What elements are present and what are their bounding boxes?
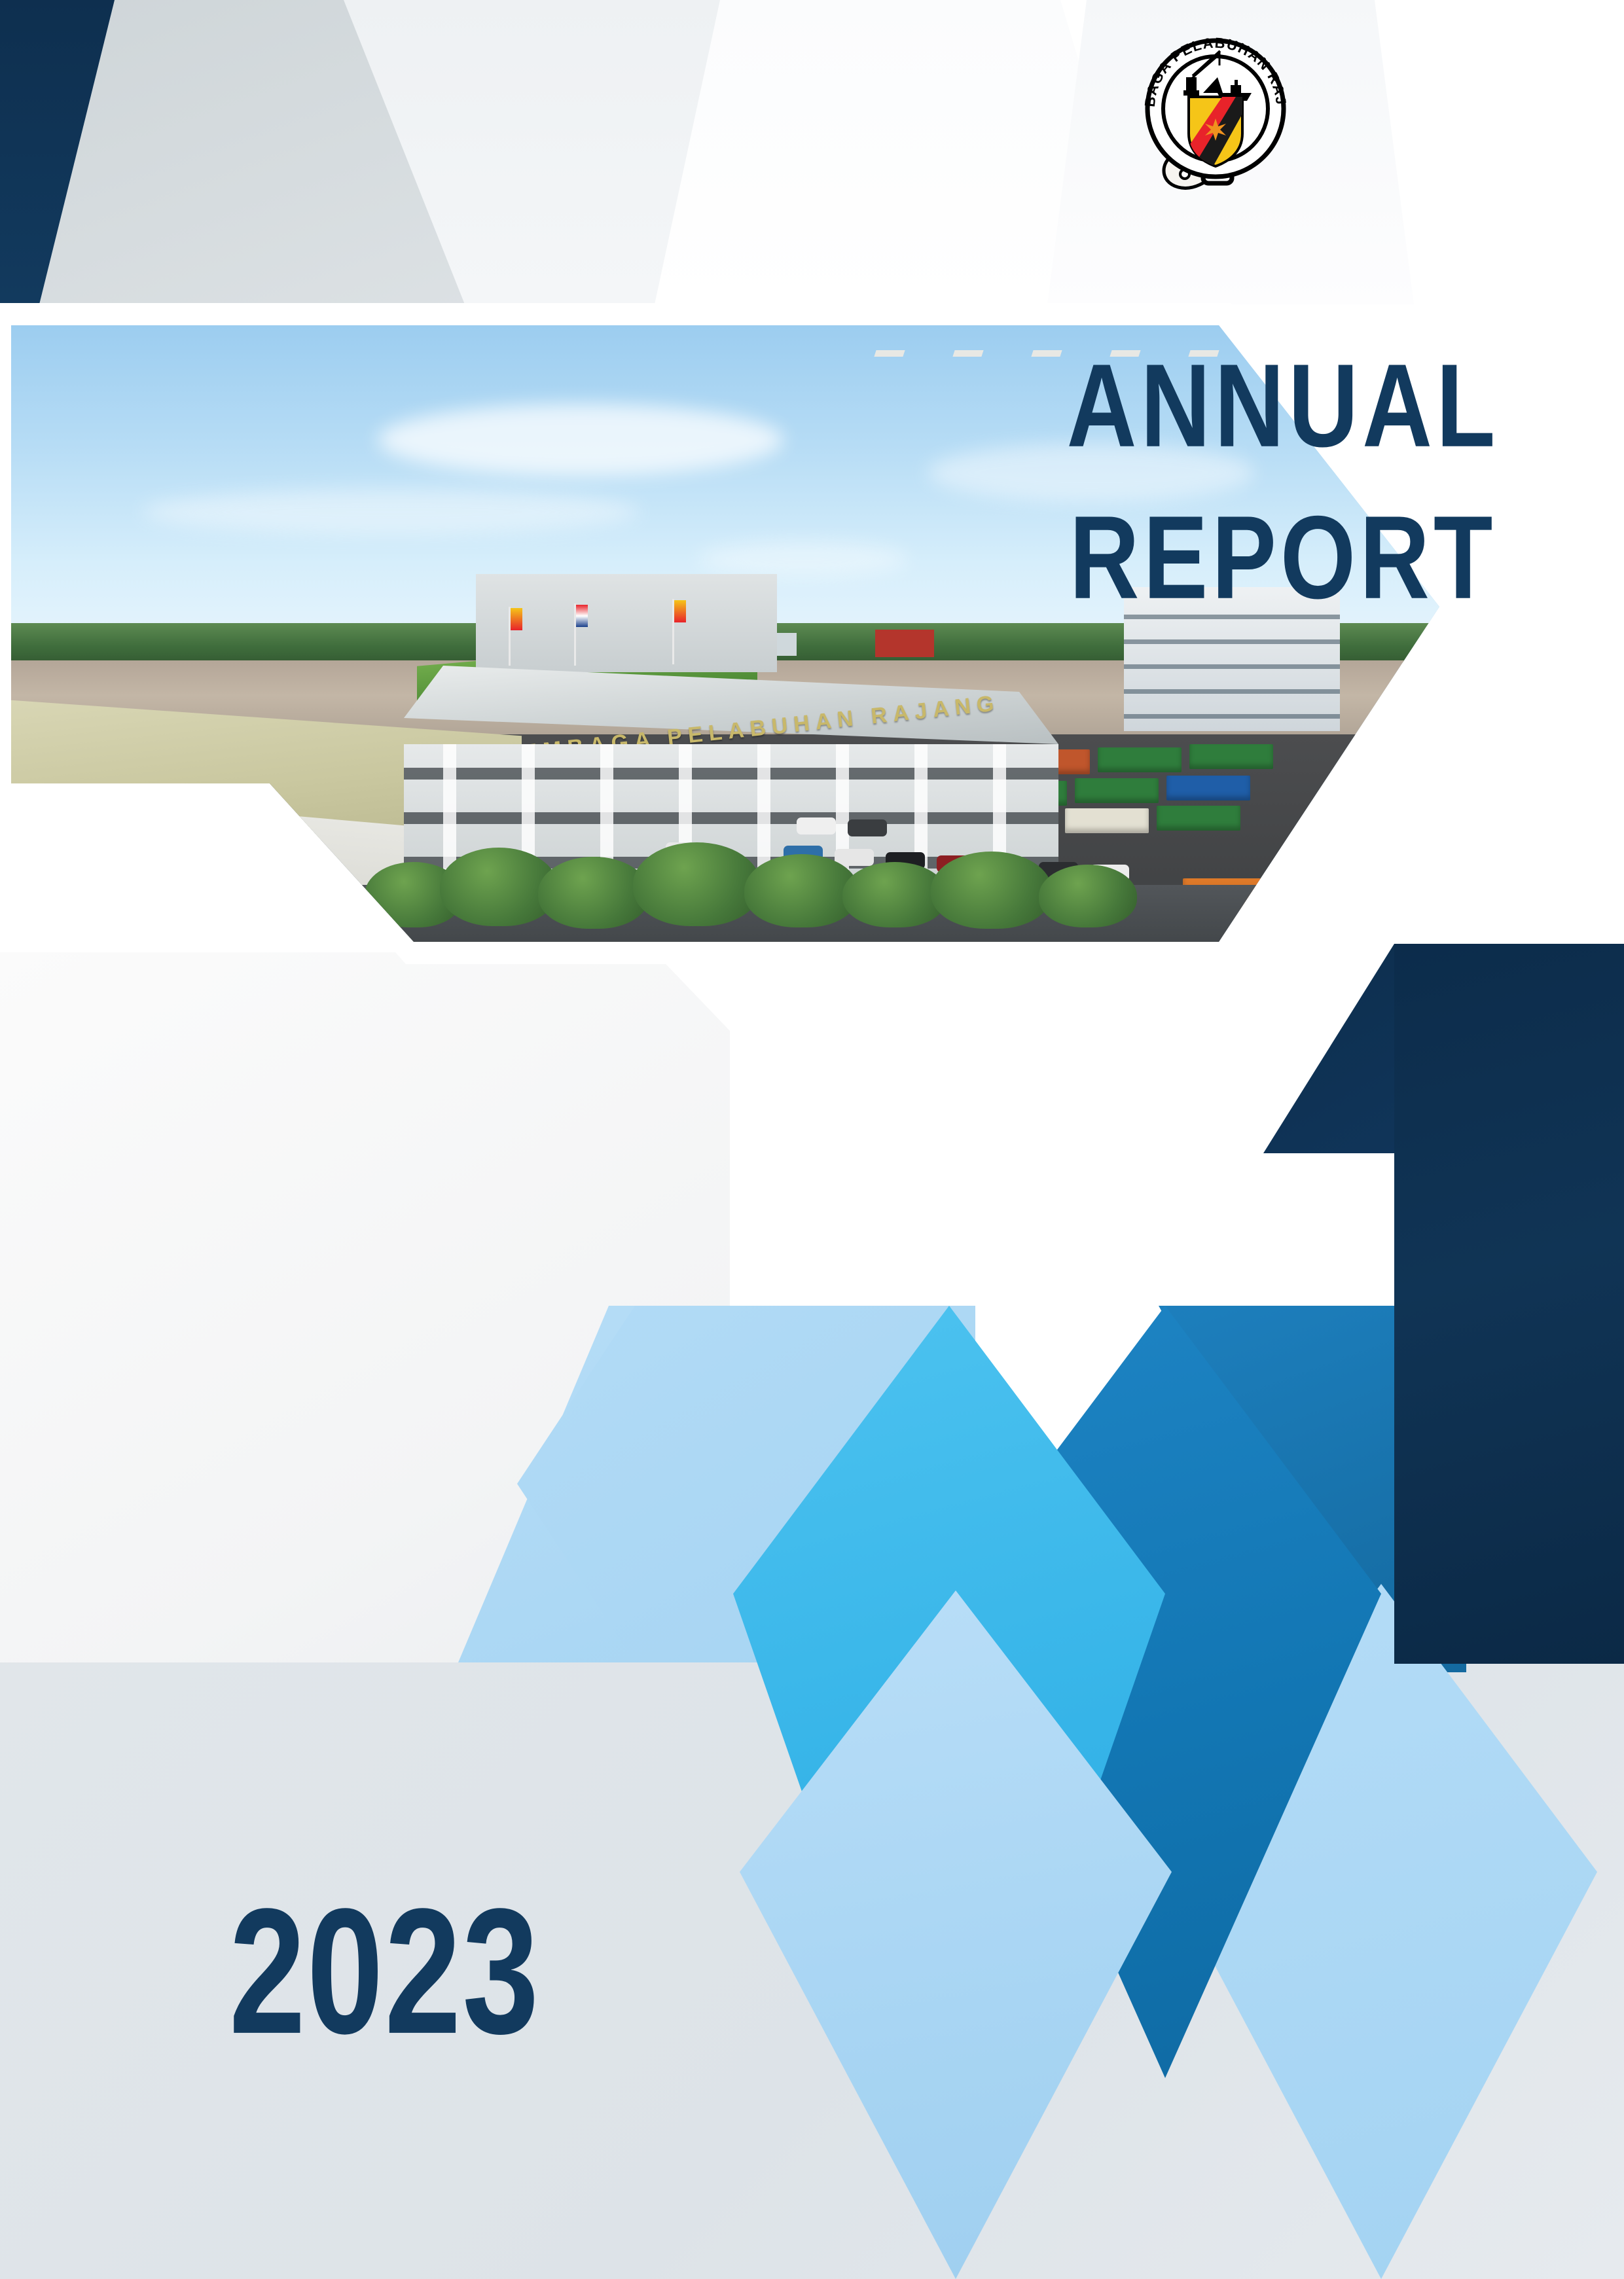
- photo-cloud: [142, 489, 640, 535]
- photo-far-building: [875, 630, 934, 657]
- decor-triangle-faint: [1047, 0, 1624, 304]
- photo-cloud: [698, 541, 908, 577]
- photo-container: [1098, 747, 1182, 772]
- title-line-report: REPORT: [969, 479, 1597, 637]
- photo-car: [797, 817, 836, 834]
- photo-container: [1166, 776, 1250, 800]
- title-line-annual: ANNUAL: [969, 327, 1597, 486]
- cover-year: 2023: [229, 1869, 540, 2075]
- photo-car: [848, 819, 887, 836]
- cover-title: ANNUAL REPORT: [969, 327, 1597, 609]
- decor-navy-block: [1394, 944, 1624, 1664]
- photo-cloud: [378, 404, 784, 476]
- photo-container: [1157, 806, 1240, 831]
- photo-container: [1065, 808, 1149, 833]
- photo-tree-row: [365, 842, 1137, 927]
- photo-container: [1075, 778, 1159, 803]
- annual-report-cover: LEMBAGA PELABUHAN RAJANG: [0, 0, 1624, 2279]
- top-geometric-band: [0, 0, 1624, 304]
- photo-container: [1189, 744, 1273, 769]
- organization-logo: LEMBAGA PELABUHAN RAJANG: [1140, 25, 1291, 208]
